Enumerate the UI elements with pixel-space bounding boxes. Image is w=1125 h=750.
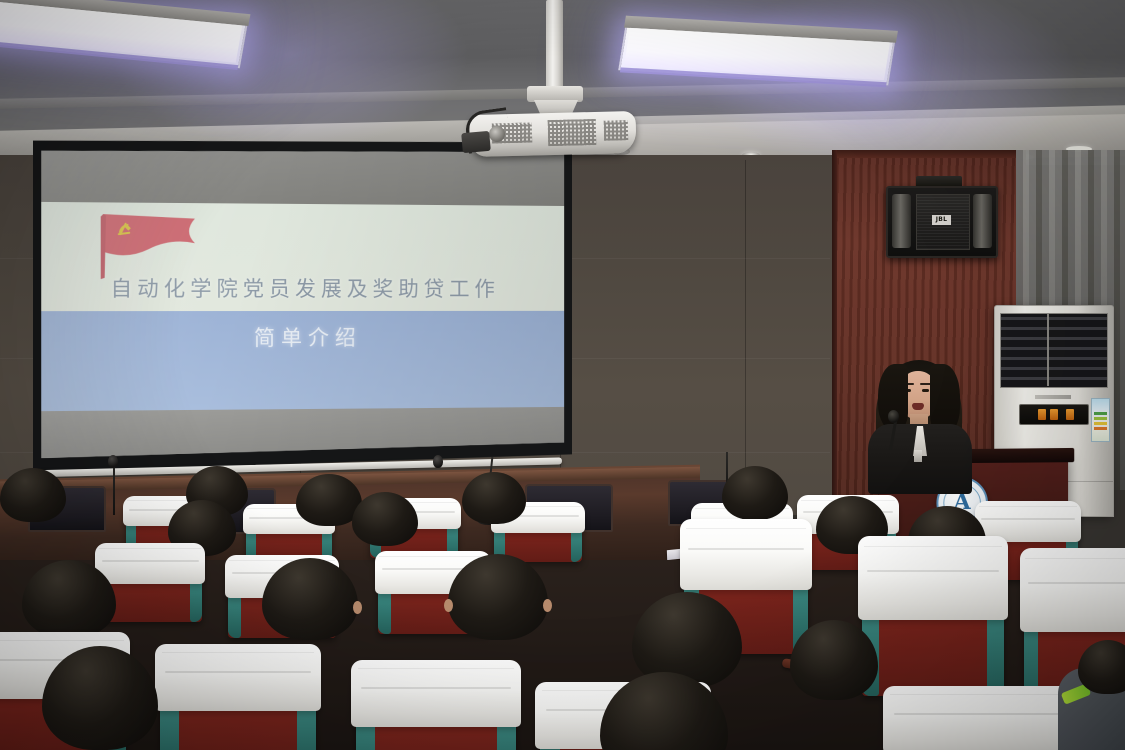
seat-white-cover (858, 536, 1009, 620)
auditorium-scene: 自动化学院党员发展及奖助贷工作 简单介绍 JBL (0, 0, 1125, 750)
audience-head-f2 (600, 672, 728, 750)
projection-screen: 自动化学院党员发展及奖助贷工作 简单介绍 (33, 135, 572, 472)
slide-subtitle: 简单介绍 (41, 322, 564, 353)
seat-mid-5[interactable] (862, 546, 1004, 696)
seat-white-cover (1020, 548, 1125, 632)
seat-white-cover (155, 644, 320, 711)
head-hair (1078, 640, 1125, 694)
seat-white-cover (680, 519, 811, 590)
head-hair (352, 492, 418, 546)
ac-brand-mark (1035, 395, 1071, 399)
speaker-driver-right (973, 194, 992, 248)
presenter-mouth (912, 403, 924, 410)
energy-stripe-1 (1094, 412, 1107, 415)
wall-panel-seam-v3 (745, 160, 746, 510)
head-hair (722, 466, 788, 520)
head-hair (262, 558, 358, 640)
ac-energy-label (1091, 398, 1110, 442)
wood-panel-top-trim (836, 150, 1026, 158)
audience-head-f1 (42, 646, 158, 750)
audience-head-b6 (352, 492, 418, 546)
head-ear-right (353, 601, 362, 614)
seat-white-cover (883, 686, 1074, 750)
screen-surface: 自动化学院党员发展及奖助贷工作 简单介绍 (41, 146, 564, 458)
head-ear-left (444, 599, 453, 612)
audience-head-m2 (262, 558, 358, 640)
wall-speaker: JBL (886, 186, 998, 258)
table-microphone-stem-1 (113, 463, 115, 515)
ac-digit-2 (1050, 409, 1058, 420)
ac-display-panel[interactable] (1019, 404, 1089, 425)
projector-vent-center (548, 119, 597, 146)
head-hair (22, 560, 116, 638)
jbl-brand-badge: JBL (932, 215, 951, 225)
head-ear-right (543, 599, 552, 612)
head-hair (0, 468, 66, 522)
projector-connector (461, 131, 491, 153)
seat-front-5[interactable] (888, 694, 1068, 750)
ac-digit-1 (1038, 409, 1046, 420)
ac-digit-3 (1066, 409, 1074, 420)
head-hair (600, 672, 728, 750)
seat-front-3[interactable] (356, 668, 516, 750)
seat-front-2[interactable] (160, 652, 316, 750)
podium-microphone-head (888, 410, 899, 423)
head-hair (790, 620, 878, 700)
table-microphone-head-1 (108, 455, 118, 468)
audience-head-b7 (722, 466, 788, 520)
audience-head-m1 (22, 560, 116, 638)
projector-mount-plate (527, 86, 583, 102)
ac-louver-divider (1047, 313, 1049, 386)
energy-stripe-2 (1094, 417, 1107, 420)
audience-head-m3 (448, 554, 548, 640)
audience-head-f3 (1078, 640, 1125, 694)
ac-louvers (1000, 313, 1108, 388)
audience-head-b5 (462, 472, 526, 524)
energy-stripe-4 (1094, 427, 1107, 430)
head-hair (448, 554, 548, 640)
projector-vent-right (604, 120, 628, 141)
presenter-at-podium (862, 358, 982, 488)
presenter-lanyard-badge (914, 450, 922, 462)
energy-stripe-3 (1094, 422, 1107, 425)
slide-title: 自动化学院党员发展及奖助贷工作 (41, 272, 564, 303)
head-hair (462, 472, 526, 524)
speaker-driver-left (892, 194, 911, 248)
head-hair (42, 646, 158, 750)
projector-mount-pole (546, 0, 563, 92)
presenter-eye-right (922, 389, 929, 392)
seat-white-cover (351, 660, 521, 727)
table-microphone-head-2 (433, 455, 443, 468)
wood-panel-seam (832, 150, 837, 520)
audience-head-m5 (790, 620, 878, 700)
audience-head-b2 (0, 468, 66, 522)
